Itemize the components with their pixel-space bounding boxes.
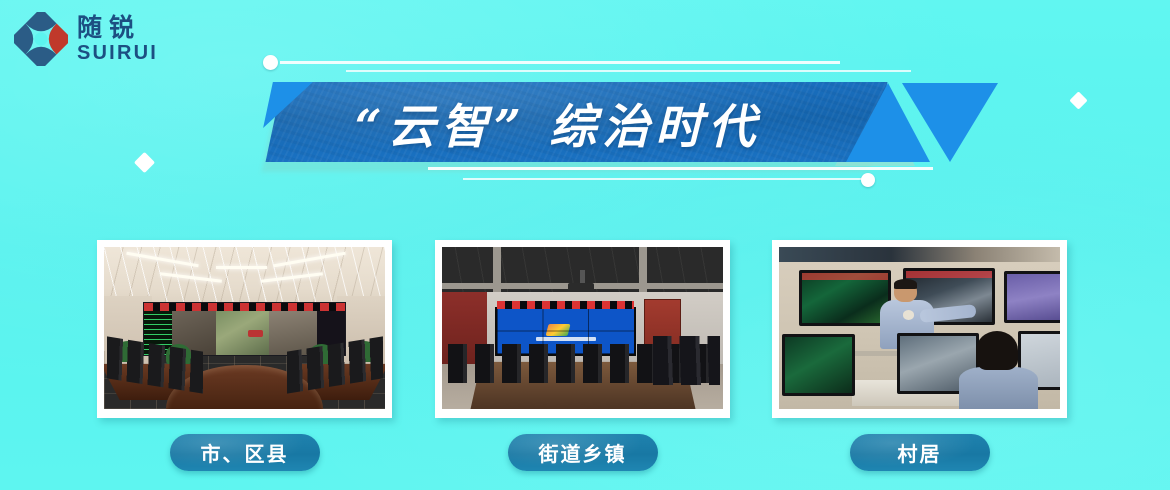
diamond-icon-left [134,152,155,173]
card-label-village[interactable]: 村居 [850,434,990,471]
brand-name-en: SUIRUI [77,43,158,63]
title-banner: “云智” 综治时代 [258,52,958,187]
brand-name-cn: 随锐 [77,15,158,40]
photo-frame [435,240,730,418]
card-street-town[interactable]: 街道乡镇 [435,240,730,471]
card-city-district[interactable]: 市、区县 [97,240,392,471]
decor-line-top-b [346,70,911,72]
brand-text: 随锐 SUIRUI [77,15,158,63]
decor-line-top-a [280,61,840,64]
dot-icon-bottom-right [861,173,875,187]
photo-frame [772,240,1067,418]
diamond-icon-right [1069,91,1087,109]
page-title: “云智” 综治时代 [258,80,858,164]
card-label-street-town[interactable]: 街道乡镇 [508,434,658,471]
card-row: 市、区县 [0,240,1170,490]
photo-frame [97,240,392,418]
dot-icon-top-left [263,55,278,70]
pinwheel-diamond-icon [14,12,68,66]
triangle-down-icon [902,83,998,162]
photo-village [779,247,1060,409]
photo-street-town [442,247,723,409]
decor-line-bottom-b [463,178,863,180]
card-label-city-district[interactable]: 市、区县 [170,434,320,471]
decor-line-bottom-a [428,167,933,170]
card-village[interactable]: 村居 [772,240,1067,471]
photo-city-district [104,247,385,409]
brand-logo[interactable]: 随锐 SUIRUI [14,12,158,66]
